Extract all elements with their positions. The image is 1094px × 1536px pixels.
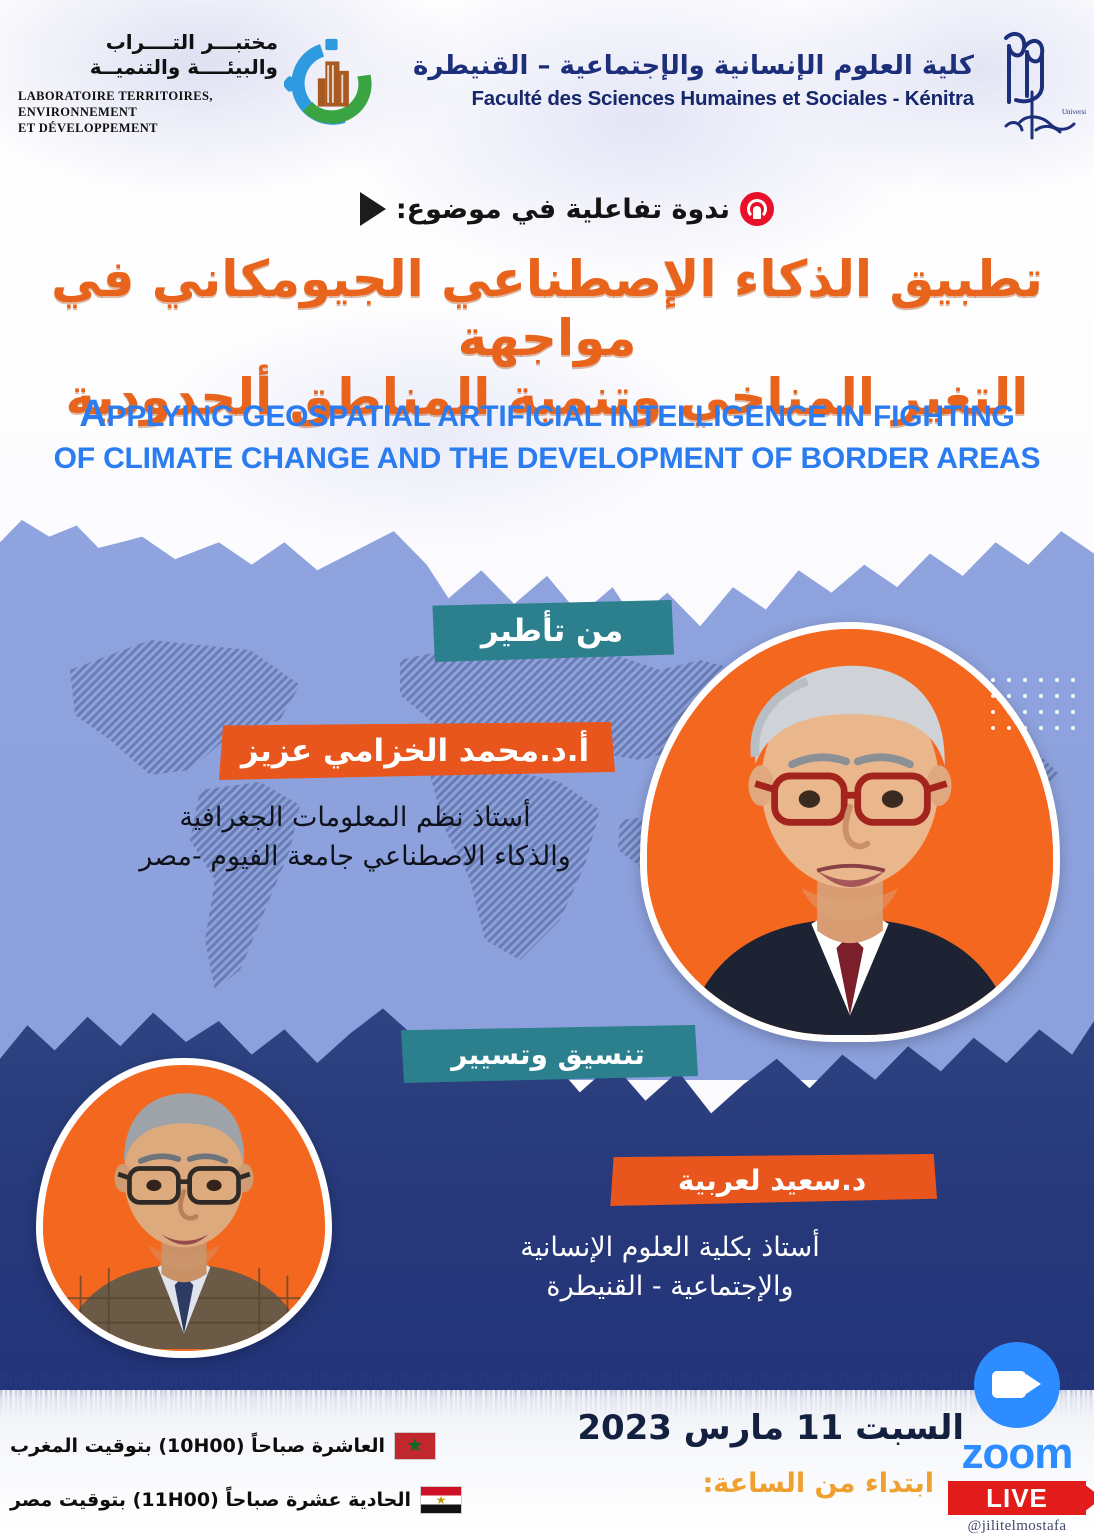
speaker-name-laarbia: د.سعيد لعربية	[607, 1154, 937, 1206]
live-badge: LIVE	[948, 1481, 1086, 1515]
poster-title-arabic-line1: تطبيق الذكاء الإصطناعي الجيومكاني في موا…	[18, 250, 1076, 368]
speaker-description-aziz-line1: أستاذ نظم المعلومات الجغرافية	[55, 798, 655, 837]
laboratory-arabic-line1: مختبـــر التــــراب	[26, 30, 278, 55]
seminar-kicker: ندوة تفاعلية في موضوع:	[360, 192, 774, 226]
time-row-morocco: ★ العاشرة صباحاً (10H00) بتوقيت المغرب	[10, 1432, 436, 1460]
seminar-kicker-text: ندوة تفاعلية في موضوع:	[396, 194, 730, 225]
speaker-description-laarbia-line1: أستاذ بكلية العلوم الإنسانية	[350, 1228, 990, 1267]
section-label-coordination: تنسيق وتسيير	[398, 1025, 698, 1083]
poster-title-english-line2: OF CLIMATE CHANGE AND THE DEVELOPMENT OF…	[14, 439, 1080, 478]
video-camera-icon	[974, 1342, 1060, 1428]
poster-header: مختبـــر التــــراب والبيئــــة والتنميـ…	[0, 0, 1094, 168]
morocco-star-icon: ★	[407, 1437, 424, 1456]
laboratory-french-line3: ET DÉVELOPPEMENT	[18, 120, 218, 136]
event-date: السبت 11 مارس 2023	[577, 1408, 964, 1448]
svg-text:Université: Université	[1062, 108, 1086, 116]
laboratory-french-name: LABORATOIRE TERRITOIRES, ENVIRONNEMENT E…	[18, 88, 218, 136]
zoom-wordmark: zoom	[948, 1432, 1086, 1476]
faculty-block: كلية العلوم الإنسانية والإجتماعية – القن…	[314, 50, 974, 111]
portrait-laarbia	[36, 1058, 332, 1358]
speaker-description-laarbia-line2: والإجتماعية - القنيطرة	[350, 1267, 990, 1306]
time-row-egypt: الحادية عشرة صباحاً (11H00) بتوقيت مصر	[10, 1486, 462, 1514]
time-egypt-text: الحادية عشرة صباحاً (11H00) بتوقيت مصر	[10, 1489, 411, 1511]
triangle-left-icon	[360, 192, 386, 226]
seminar-poster: مختبـــر التــــراب والبيئــــة والتنميـ…	[0, 0, 1094, 1536]
live-broadcast-icon	[740, 192, 774, 226]
section-label-supervision: من تأطير	[430, 600, 674, 662]
designer-watermark: @jilitelmostafa	[948, 1518, 1086, 1535]
decorative-dots	[985, 672, 1077, 734]
event-start-label: ابتداء من الساعة:	[702, 1468, 934, 1499]
speaker-name-aziz: أ.د.محمد الخزامي عزيز	[215, 722, 615, 780]
live-badge-text: LIVE	[986, 1483, 1048, 1514]
poster-title-english: APPLYING GEOSPATIAL ARTIFICIAL INTELLIGE…	[0, 390, 1094, 478]
poster-title-drop-cap: A	[79, 393, 106, 435]
laboratory-french-line2: ENVIRONNEMENT	[18, 104, 218, 120]
egypt-flag-icon	[420, 1486, 462, 1514]
zoom-live-badge: zoom LIVE @jilitelmostafa	[948, 1342, 1086, 1536]
laboratory-arabic-line2: والبيئــــة والتنميــة	[26, 55, 278, 80]
ibn-tofail-university-logo-icon: Université	[976, 26, 1086, 146]
speaker-description-laarbia: أستاذ بكلية العلوم الإنسانية والإجتماعية…	[350, 1228, 990, 1306]
laboratory-french-line1: LABORATOIRE TERRITOIRES,	[18, 88, 218, 104]
time-morocco-text: العاشرة صباحاً (10H00) بتوقيت المغرب	[10, 1435, 385, 1457]
faculty-french-name: Faculté des Sciences Humaines et Sociale…	[314, 87, 974, 111]
morocco-flag-icon: ★	[394, 1432, 436, 1460]
speaker-description-aziz-line2: والذكاء الاصطناعي جامعة الفيوم -مصر	[55, 837, 655, 876]
video-camera-glyph	[992, 1371, 1026, 1398]
speaker-description-aziz: أستاذ نظم المعلومات الجغرافية والذكاء ال…	[55, 798, 655, 876]
laboratory-arabic-name: مختبـــر التــــراب والبيئــــة والتنميـ…	[26, 30, 278, 80]
poster-title-english-line1: APPLYING GEOSPATIAL ARTIFICIAL INTELLIGE…	[14, 390, 1080, 439]
faculty-arabic-name: كلية العلوم الإنسانية والإجتماعية – القن…	[314, 50, 974, 83]
poster-title-english-line1-text: PPLYING GEOSPATIAL ARTIFICIAL INTELLIGEN…	[107, 400, 1015, 433]
